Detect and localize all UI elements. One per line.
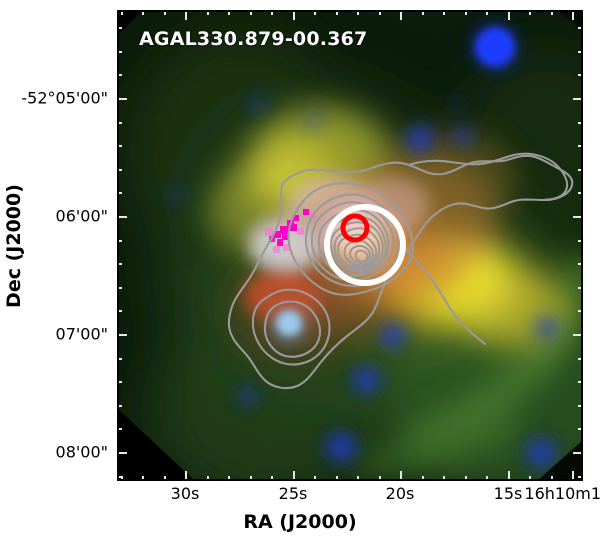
- x-minor-tick: [228, 476, 230, 481]
- y-minor-tick: [117, 122, 122, 124]
- x-major-tick: [572, 471, 574, 481]
- y-major-tick: [117, 98, 127, 100]
- y-minor-tick: [578, 358, 583, 360]
- x-major-tick: [400, 10, 402, 20]
- y-tick-label: -52°05'00": [0, 89, 108, 108]
- y-axis-label: Dec (J2000): [3, 146, 25, 346]
- y-major-tick: [117, 452, 127, 454]
- x-minor-tick: [121, 10, 123, 15]
- x-minor-tick: [207, 10, 209, 15]
- x-minor-tick: [443, 476, 445, 481]
- y-major-tick: [573, 98, 583, 100]
- y-minor-tick: [117, 169, 122, 171]
- x-minor-tick: [357, 10, 359, 15]
- x-minor-tick: [142, 476, 144, 481]
- x-minor-tick: [357, 476, 359, 481]
- x-tick-label: 16h10m10s: [524, 484, 600, 503]
- source-markers[interactable]: [117, 10, 583, 481]
- y-major-tick: [573, 334, 583, 336]
- y-minor-tick: [117, 310, 122, 312]
- x-minor-tick: [336, 10, 338, 15]
- x-minor-tick: [314, 476, 316, 481]
- x-minor-tick: [250, 10, 252, 15]
- x-minor-tick: [228, 10, 230, 15]
- x-axis-label: RA (J2000): [0, 511, 600, 533]
- x-minor-tick: [529, 476, 531, 481]
- y-minor-tick: [578, 74, 583, 76]
- y-major-tick: [573, 216, 583, 218]
- x-minor-tick: [529, 10, 531, 15]
- x-minor-tick: [336, 476, 338, 481]
- y-major-tick: [117, 334, 127, 336]
- sky-image-panel[interactable]: AGAL330.879-00.367: [117, 10, 583, 481]
- astronomical-figure: AGAL330.879-00.367 30s25s20s15s16h10m10s…: [0, 0, 600, 543]
- x-minor-tick: [271, 10, 273, 15]
- y-minor-tick: [117, 240, 122, 242]
- y-minor-tick: [578, 51, 583, 53]
- y-major-tick: [117, 216, 127, 218]
- x-major-tick: [508, 471, 510, 481]
- y-minor-tick: [117, 51, 122, 53]
- x-minor-tick: [250, 476, 252, 481]
- y-minor-tick: [117, 381, 122, 383]
- x-minor-tick: [142, 10, 144, 15]
- y-tick-label: 08'00": [0, 443, 108, 462]
- x-minor-tick: [486, 10, 488, 15]
- x-minor-tick: [465, 10, 467, 15]
- y-minor-tick: [578, 192, 583, 194]
- y-minor-tick: [117, 428, 122, 430]
- x-major-tick: [572, 10, 574, 20]
- x-major-tick: [185, 471, 187, 481]
- y-minor-tick: [117, 287, 122, 289]
- x-minor-tick: [271, 476, 273, 481]
- x-tick-label: 15s: [494, 484, 523, 503]
- x-minor-tick: [379, 10, 381, 15]
- y-minor-tick: [117, 27, 122, 29]
- x-tick-label: 25s: [279, 484, 308, 503]
- x-minor-tick: [164, 476, 166, 481]
- source-title: AGAL330.879-00.367: [139, 28, 367, 50]
- x-minor-tick: [164, 10, 166, 15]
- y-minor-tick: [578, 145, 583, 147]
- y-minor-tick: [578, 240, 583, 242]
- x-major-tick: [185, 10, 187, 20]
- y-minor-tick: [578, 310, 583, 312]
- y-minor-tick: [578, 27, 583, 29]
- y-minor-tick: [578, 122, 583, 124]
- x-minor-tick: [207, 476, 209, 481]
- y-major-tick: [573, 452, 583, 454]
- red-source-circle[interactable]: [343, 216, 367, 240]
- x-major-tick: [293, 471, 295, 481]
- y-minor-tick: [117, 74, 122, 76]
- x-minor-tick: [422, 476, 424, 481]
- x-minor-tick: [422, 10, 424, 15]
- y-minor-tick: [117, 145, 122, 147]
- y-minor-tick: [578, 381, 583, 383]
- y-minor-tick: [117, 358, 122, 360]
- x-minor-tick: [314, 10, 316, 15]
- x-minor-tick: [443, 10, 445, 15]
- y-minor-tick: [578, 476, 583, 478]
- y-minor-tick: [578, 287, 583, 289]
- y-minor-tick: [578, 169, 583, 171]
- x-major-tick: [400, 471, 402, 481]
- x-minor-tick: [486, 476, 488, 481]
- y-minor-tick: [117, 405, 122, 407]
- x-minor-tick: [379, 476, 381, 481]
- y-minor-tick: [578, 263, 583, 265]
- x-minor-tick: [551, 476, 553, 481]
- x-tick-label: 30s: [171, 484, 200, 503]
- y-minor-tick: [578, 428, 583, 430]
- y-minor-tick: [117, 192, 122, 194]
- y-minor-tick: [117, 476, 122, 478]
- y-minor-tick: [117, 263, 122, 265]
- x-major-tick: [508, 10, 510, 20]
- x-minor-tick: [465, 476, 467, 481]
- y-minor-tick: [578, 405, 583, 407]
- x-minor-tick: [551, 10, 553, 15]
- x-major-tick: [293, 10, 295, 20]
- x-tick-label: 20s: [386, 484, 415, 503]
